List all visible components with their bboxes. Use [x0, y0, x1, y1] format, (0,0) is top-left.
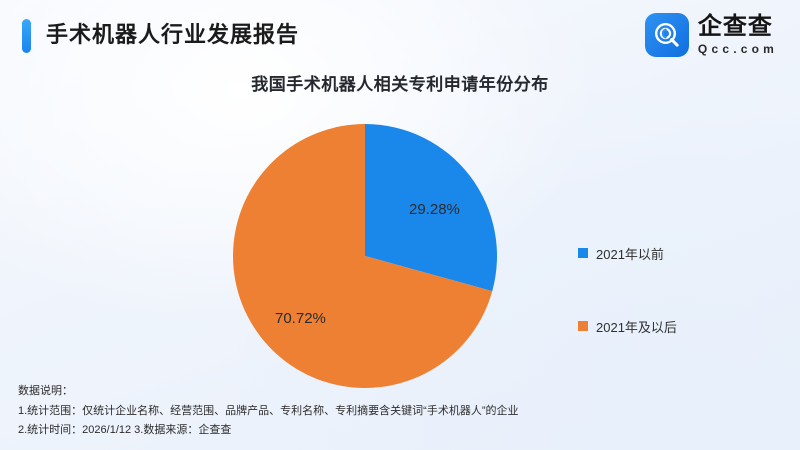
brand-name: 企查查 [698, 15, 778, 39]
pie-slice-label-blue: 29.28% [409, 201, 460, 218]
page-title: 手术机器人行业发展报告 [46, 17, 299, 49]
chart-legend: 2021年以前 2021年及以后 [578, 246, 768, 333]
title-accent-bar [22, 19, 31, 53]
legend-item-2021-after[interactable]: 2021年及以后 [578, 319, 768, 333]
pie-chart [233, 124, 497, 388]
qcc-logo-icon [645, 13, 689, 57]
brand-wordmark: 企查查 Qcc.com [698, 15, 778, 55]
legend-item-2021-before[interactable]: 2021年以前 [578, 246, 768, 260]
legend-label-2021-after: 2021年及以后 [596, 317, 677, 336]
chart-title: 我国手术机器人相关专利申请年份分布 [0, 70, 800, 95]
footnote-line-2: 2.统计时间：2026/1/12 3.数据来源：企查查 [18, 421, 788, 440]
brand-domain: Qcc.com [698, 43, 778, 55]
report-page: 手术机器人行业发展报告 企查查 Qcc.com 我国手术机器人相关专利申请年份分… [0, 0, 800, 450]
legend-swatch-blue [578, 248, 588, 258]
page-header: 手术机器人行业发展报告 企查查 Qcc.com [0, 0, 800, 68]
footnotes: 数据说明： 1.统计范围：仅统计企业名称、经营范围、品牌产品、专利名称、专利摘要… [18, 382, 788, 440]
footnote-heading: 数据说明： [18, 382, 788, 401]
pie-slice-label-orange: 70.72% [275, 310, 326, 327]
footnote-line-1: 1.统计范围：仅统计企业名称、经营范围、品牌产品、专利名称、专利摘要含关键词“手… [18, 402, 788, 421]
legend-label-2021-before: 2021年以前 [596, 244, 664, 263]
legend-swatch-orange [578, 321, 588, 331]
brand-logo: 企查查 Qcc.com [645, 13, 778, 57]
